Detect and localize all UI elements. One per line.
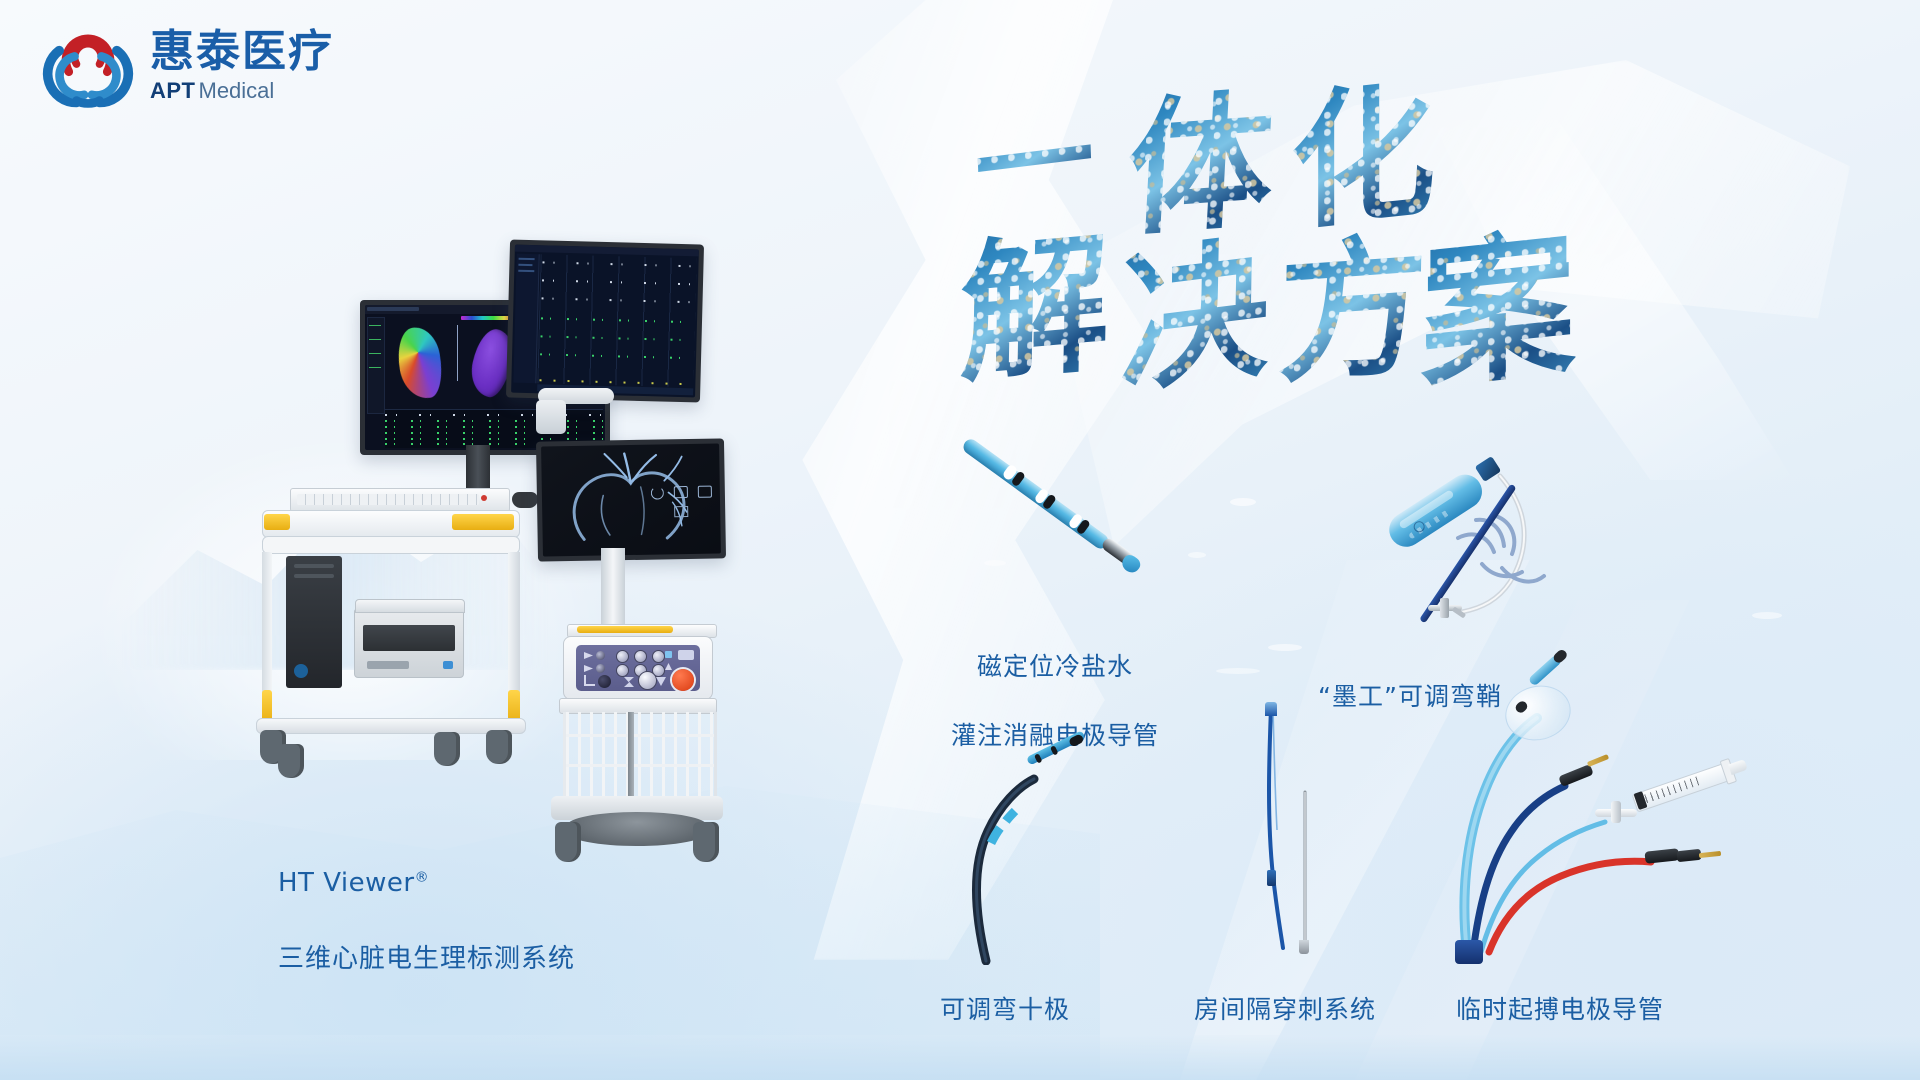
printer [354, 608, 464, 678]
poster-canvas: 惠泰医疗 APTMedical 一 体 化 解 决 方 案 [0, 0, 1920, 1080]
label-temporary-pacing-catheter: 临时起搏电极导管 [1456, 958, 1664, 1062]
rf-generator-unit [563, 636, 713, 700]
headline-char-5: 决 [1119, 186, 1272, 423]
decor-flake-3 [1268, 644, 1302, 651]
computer-tower [286, 556, 342, 688]
cart-base-dome [567, 812, 707, 846]
cart-caster-3 [434, 732, 460, 766]
brand-cn-name: 惠泰医疗 [150, 29, 334, 75]
headline-char-4: 解 [958, 181, 1111, 412]
brand-en-primary: APT [150, 78, 196, 103]
mouse [512, 492, 538, 508]
headline-calligraphy: 一 体 化 解 决 方 案 [960, 40, 1620, 350]
rf-generator-cart [545, 440, 825, 860]
cart-drawer [262, 536, 520, 554]
label-ht-viewer-system: HT Viewer® 三维心脏电生理标测系统 [278, 830, 575, 1013]
steerable-decapolar-catheter [930, 725, 1090, 965]
label-transseptal-puncture-system: 房间隔穿刺系统 [1194, 958, 1376, 1062]
rf-generator-panel [576, 645, 700, 691]
label-line-1: 可调弯十极 [940, 993, 1070, 1028]
heart-xray-screen [541, 443, 721, 556]
screen-icon-2 [674, 486, 688, 498]
irrigated-ablation-catheter [980, 440, 1180, 600]
brand-wordmark: 惠泰医疗 APTMedical [150, 29, 334, 103]
decor-flake-5 [1752, 612, 1782, 619]
label-line-1: 临时起搏电极导管 [1456, 993, 1664, 1028]
steerable-sheath [1400, 450, 1730, 620]
needle-marker [1267, 870, 1276, 886]
registered-mark: ® [415, 869, 430, 885]
keyboard [290, 488, 510, 512]
decor-flake-4 [1216, 668, 1260, 674]
decor-flake-2 [1188, 552, 1206, 558]
generator-cart-caster-2 [693, 822, 719, 862]
hemostasis-valve [1428, 600, 1462, 616]
stop-button[interactable] [672, 669, 694, 691]
cart-caster-2 [278, 744, 304, 778]
ecg-recording-screen [511, 245, 699, 398]
temporary-pacing-catheter [1455, 660, 1875, 960]
brand-en-secondary: Medical [199, 78, 275, 103]
sheath-curve-indicator [1440, 502, 1640, 652]
transseptal-puncture-system [1225, 700, 1345, 960]
cart-basket [563, 712, 717, 798]
brand-en-name: APTMedical [150, 79, 334, 103]
stopcock [1595, 802, 1637, 822]
headline-char-7: 案 [1420, 175, 1575, 419]
brand-logo: 惠泰医疗 APTMedical [40, 18, 334, 114]
tray-accent [577, 626, 673, 633]
dilator-tip [1299, 940, 1309, 954]
cart-caster-4 [486, 730, 512, 764]
ht-viewer-cn-name: 三维心脏电生理标测系统 [278, 942, 575, 978]
cart-handle-right [452, 514, 514, 530]
ecg-recording-monitor [506, 239, 704, 402]
screen-icon-3 [674, 506, 688, 517]
monitor-arm-joint [536, 400, 566, 434]
label-line-1: 磁定位冷盐水 [951, 650, 1159, 685]
cart-base [256, 718, 526, 734]
la-map-model [393, 324, 447, 402]
ht-viewer-en: HT Viewer [278, 868, 415, 898]
screen-icon-1 [698, 486, 712, 498]
decor-flake-1 [1230, 498, 1256, 506]
label-line-1: 房间隔穿刺系统 [1194, 993, 1376, 1028]
headline-char-6: 方 [1276, 184, 1429, 412]
cart-handle-left [264, 514, 290, 530]
display-pole [601, 548, 625, 626]
needle-hub [1265, 702, 1277, 716]
catheter-shaft [961, 436, 1111, 551]
label-steerable-decapolar: 可调弯十极 [940, 958, 1070, 1062]
apt-medical-loop-logo-icon [40, 18, 136, 114]
heart-xray-monitor [536, 438, 726, 561]
ht-viewer-product-name: HT Viewer® [278, 866, 575, 902]
